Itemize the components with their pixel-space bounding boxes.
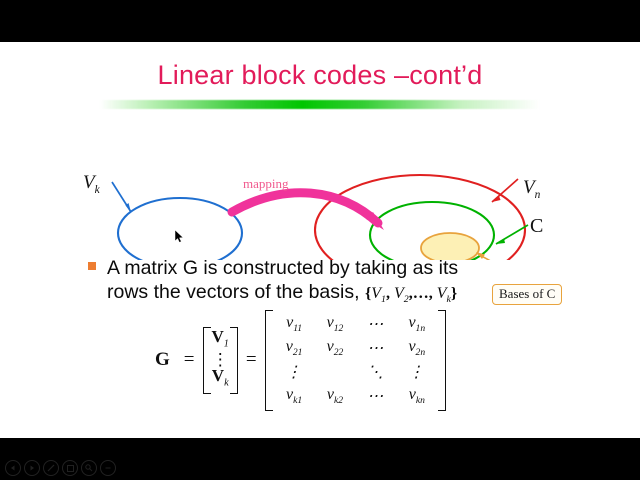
code-label-arrowhead	[496, 239, 505, 245]
code-subspace-label: C	[530, 215, 543, 238]
equals-sign-2: =	[246, 349, 257, 371]
column-vector-bracket: V1 ⋮ Vk	[203, 327, 238, 394]
bullet-line-2: rows the vectors of the basis,	[107, 281, 360, 303]
matrix-row-1: v11 v12 ⋯ v1n	[274, 312, 438, 336]
column-vector-row-1: V1	[212, 329, 229, 352]
next-slide-button[interactable]	[24, 460, 40, 476]
target-label-arrowhead	[492, 196, 501, 202]
matrix-bracket: v11 v12 ⋯ v1n v21 v22 ⋯ v2n ⋮ ⋱	[265, 310, 447, 411]
matrix-cell-k-2: vk2	[315, 384, 356, 408]
previous-arrow-icon	[10, 465, 16, 471]
title-underline-rule	[100, 100, 540, 109]
previous-slide-button[interactable]	[5, 460, 21, 476]
bullet-line-1: A matrix G is constructed by taking as i…	[107, 257, 458, 279]
matrix-cell-1-dots: ⋯	[355, 312, 396, 336]
matrix-cell-k-1: vk1	[274, 384, 315, 408]
equals-sign-1: =	[184, 349, 195, 371]
slideshow-controls-bar[interactable]	[5, 460, 116, 476]
column-vector: V1 ⋮ Vk	[212, 329, 229, 392]
mouse-pointer-icon	[175, 230, 184, 243]
magnifier-icon	[85, 464, 93, 472]
matrix-cell-1-2: v12	[315, 312, 356, 336]
matrix-entries-table: v11 v12 ⋯ v1n v21 v22 ⋯ v2n ⋮ ⋱	[274, 312, 438, 409]
letterbox-top	[0, 0, 640, 42]
matrix-row-k: vk1 vk2 ⋯ vkn	[274, 384, 438, 408]
mapping-arrow-label: mapping	[243, 176, 289, 192]
matrix-cell-3-ddots: ⋱	[355, 360, 396, 384]
bullet-square-icon	[88, 262, 96, 270]
matrix-g-symbol: G	[155, 349, 170, 371]
zoom-button[interactable]	[81, 460, 97, 476]
matrix-cell-k-n: vkn	[396, 384, 437, 408]
matrix-cell-2-2: v22	[315, 336, 356, 360]
more-options-button[interactable]	[100, 460, 116, 476]
pen-icon	[47, 464, 55, 472]
slide-canvas: Linear block codes –cont’d	[0, 42, 640, 438]
matrix-cell-1-n: v1n	[396, 312, 437, 336]
matrix-row-2: v21 v22 ⋯ v2n	[274, 336, 438, 360]
pen-tool-button[interactable]	[43, 460, 59, 476]
slide-grid-button[interactable]	[62, 460, 78, 476]
matrix-cell-3-vdots-right: ⋮	[396, 360, 437, 384]
matrix-cell-3-vdots: ⋮	[274, 360, 315, 384]
mapping-arrow-curve	[232, 193, 378, 223]
presentation-screen: Linear block codes –cont’d	[0, 0, 640, 480]
source-space-ellipse	[118, 198, 242, 260]
slide-title: Linear block codes –cont’d	[0, 60, 640, 91]
bullet-paragraph: A matrix G is constructed by taking as i…	[88, 256, 558, 312]
matrix-cell-2-dots: ⋯	[355, 336, 396, 360]
matrix-row-ellipsis: ⋮ ⋱ ⋮	[274, 360, 438, 384]
target-space-label: Vn	[523, 177, 540, 201]
column-vector-row-k: Vk	[212, 368, 229, 391]
source-space-label: Vk	[83, 172, 100, 196]
matrix-cell-1-1: v11	[274, 312, 315, 336]
basis-set-notation: {V1, V2,…, Vk}	[365, 285, 457, 302]
matrix-cell-k-dots: ⋯	[355, 384, 396, 408]
bullet-text-block: A matrix G is constructed by taking as i…	[107, 256, 558, 312]
next-arrow-icon	[29, 465, 35, 471]
target-space-ellipse	[315, 175, 525, 260]
generator-matrix-equation: G = V1 ⋮ Vk = v11 v12	[155, 310, 446, 411]
matrix-cell-2-n: v2n	[396, 336, 437, 360]
matrix-cell-3-blank	[315, 360, 356, 384]
matrix-cell-2-1: v21	[274, 336, 315, 360]
grid-icon	[67, 465, 74, 472]
ellipsis-icon	[104, 464, 112, 472]
vector-space-mapping-diagram: Vk Vn C mapping Bases of C	[0, 120, 640, 260]
